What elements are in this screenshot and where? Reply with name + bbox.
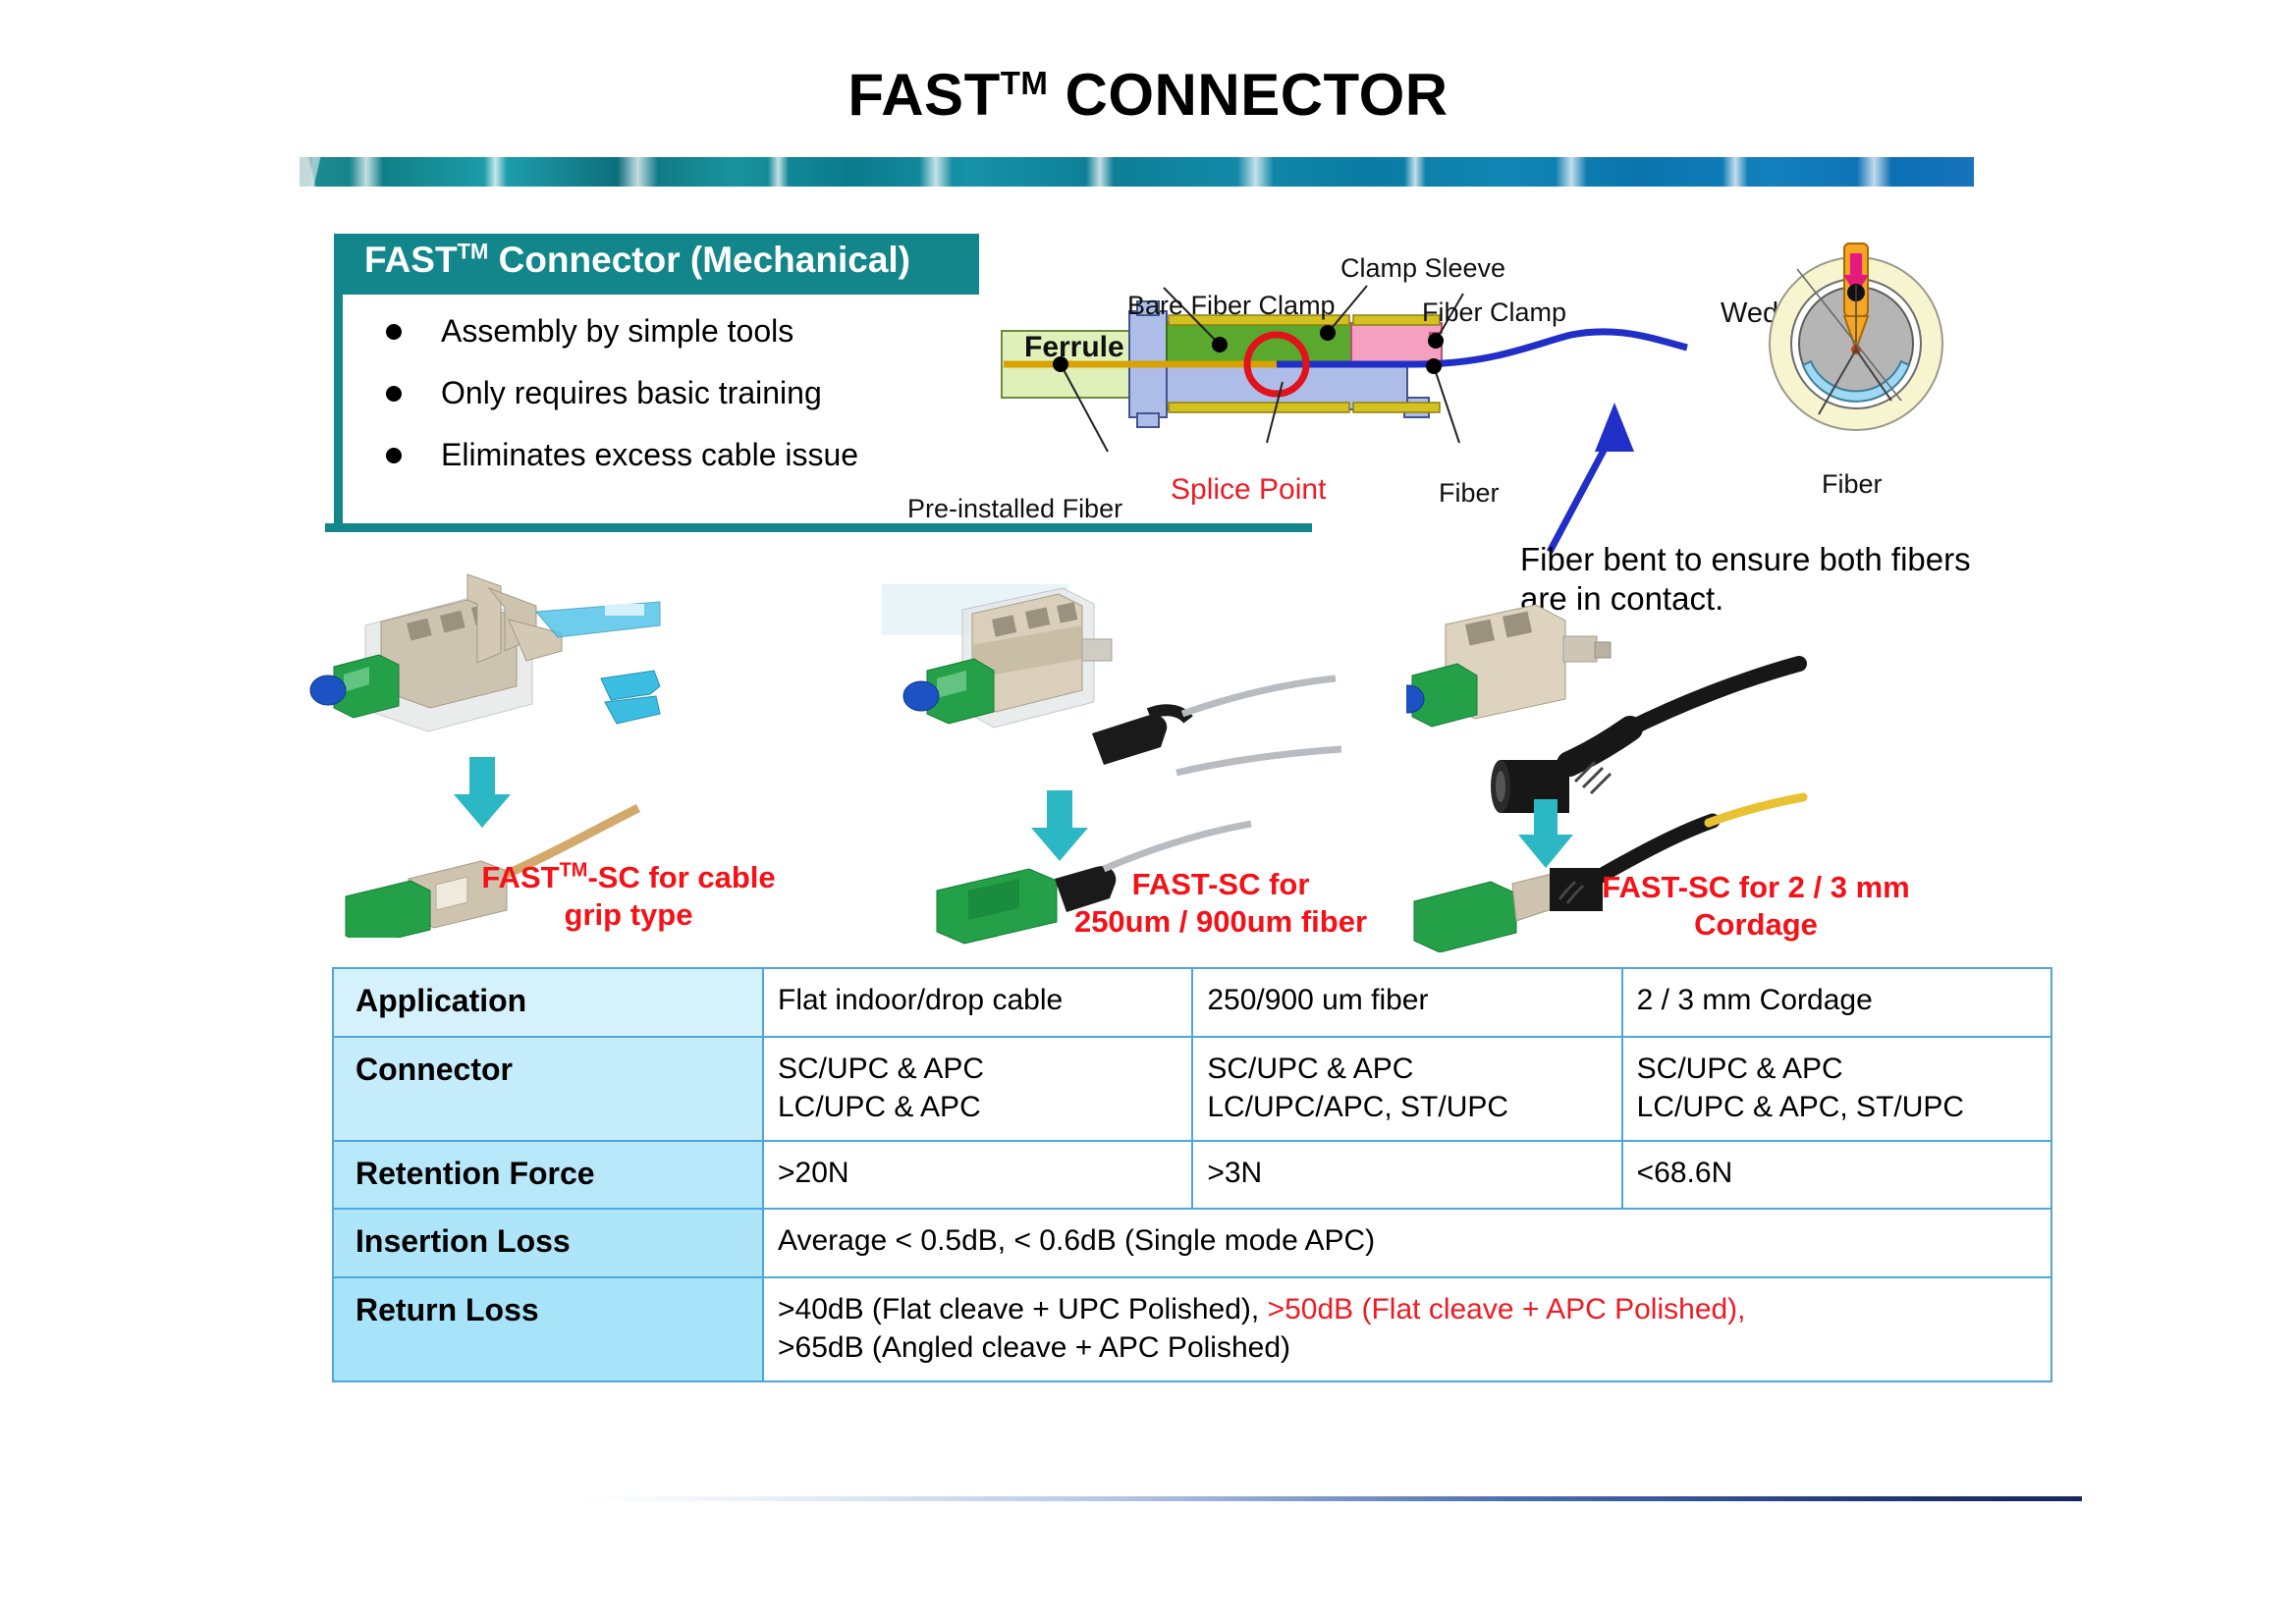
feature-item-label: Assembly by simple tools [441,313,793,350]
cell-line: LC/UPC & APC, ST/UPC [1637,1088,2037,1126]
feature-list-item: Assembly by simple tools [343,300,979,362]
band-streak [1237,157,1275,187]
band-streak [1404,157,1426,187]
bullet-icon [386,324,402,340]
cell-retention-col3: <68.6N [1622,1141,2051,1210]
label-ferrule: Ferrule [1024,331,1124,364]
label-splice-point: Splice Point [1171,473,1326,507]
page-title: FASTTM CONNECTOR [0,61,2296,129]
feature-heading-rest: Connector (Mechanical) [488,240,910,280]
feature-item-label: Only requires basic training [441,375,822,411]
table-row: Retention Force >20N >3N <68.6N [333,1141,2051,1210]
cell-connector-col3: SC/UPC & APC LC/UPC & APC, ST/UPC [1622,1037,2051,1141]
cell-return-loss: >40dB (Flat cleave + UPC Polished), >50d… [763,1277,2051,1381]
caption-1-tm-superscript: TM [560,860,588,882]
caption-2-line2: 250um / 900um fiber [1039,903,1402,941]
feature-box-heading: FASTTM Connector (Mechanical) [343,234,979,295]
band-streak [919,157,953,187]
caption-1-rest: -SC for cable [587,860,775,894]
cell-application-col1: Flat indoor/drop cable [763,968,1192,1037]
cell-connector-col1: SC/UPC & APC LC/UPC & APC [763,1037,1192,1141]
band-streak [1722,157,1748,187]
label-bare-fiber-clamp: Bare Fiber Clamp [1127,291,1336,321]
header-decorative-band [300,157,1974,187]
footer-rule [579,1496,2082,1501]
caption-3-line2: Cordage [1569,906,1942,944]
caption-2-main: FAST-SC for [1039,866,1402,903]
table-row: Application Flat indoor/drop cable 250/9… [333,968,2051,1037]
caption-fast-sc-cable-grip: FASTTM-SC for cable grip type [462,859,795,934]
cell-line: SC/UPC & APC [778,1050,1177,1088]
table-row: Connector SC/UPC & APC LC/UPC & APC SC/U… [333,1037,2051,1141]
cell-line: SC/UPC & APC [1207,1050,1607,1088]
row-header-insertion-loss: Insertion Loss [333,1209,763,1277]
table-row: Return Loss >40dB (Flat cleave + UPC Pol… [333,1277,2051,1381]
row-header-application: Application [333,968,763,1037]
band-streak [1857,157,1892,187]
label-pre-installed-fiber: Pre-installed Fiber [907,494,1122,524]
fiber-note-line1: Fiber bent to ensure both fibers [1520,540,2041,579]
label-fiber-clamp: Fiber Clamp [1422,297,1566,328]
band-streak [1556,157,1587,187]
caption-1-line2: grip type [462,896,795,934]
band-streak [768,157,788,187]
spec-table: Application Flat indoor/drop cable 250/9… [332,967,2052,1382]
bent-fiber-arrow-icon [1512,373,1689,560]
bullet-icon [386,386,402,402]
return-loss-black-part: >40dB (Flat cleave + UPC Polished), [778,1293,1268,1325]
band-streak [350,157,383,187]
cell-line: LC/UPC & APC [778,1088,1177,1126]
page-title-rest: CONNECTOR [1048,62,1448,128]
label-wedge-fiber: Fiber [1822,469,1883,500]
band-streak [484,157,508,187]
feature-box-bottom-rule [325,523,1312,532]
feature-heading-tm-superscript: TM [458,240,489,264]
page-title-main: FAST [847,62,1000,128]
feature-list-item: Eliminates excess cable issue [343,424,979,486]
caption-fast-sc-2-3mm-cordage: FAST-SC for 2 / 3 mm Cordage [1569,869,1942,944]
table-row: Insertion Loss Average < 0.5dB, < 0.6dB … [333,1209,2051,1277]
row-header-connector: Connector [333,1037,763,1141]
cell-retention-col1: >20N [763,1141,1192,1210]
label-clamp-sleeve: Clamp Sleeve [1340,253,1505,284]
page-title-tm-superscript: TM [1001,65,1049,101]
cell-insertion-loss: Average < 0.5dB, < 0.6dB (Single mode AP… [763,1209,2051,1277]
feature-box: FASTTM Connector (Mechanical) Assembly b… [334,234,979,523]
caption-1-main: FAST [481,860,559,894]
band-streak [618,157,658,187]
band-streak [1086,157,1113,187]
cell-application-col2: 250/900 um fiber [1192,968,1621,1037]
cell-connector-col2: SC/UPC & APC LC/UPC/APC, ST/UPC [1192,1037,1621,1141]
return-loss-red-part: >50dB (Flat cleave + APC Polished), [1268,1293,1746,1325]
feature-list: Assembly by simple tools Only requires b… [343,300,979,486]
row-header-retention-force: Retention Force [333,1141,763,1210]
label-fiber: Fiber [1439,478,1500,509]
cell-retention-col2: >3N [1192,1141,1621,1210]
cell-line: SC/UPC & APC [1637,1050,2037,1088]
cell-application-col3: 2 / 3 mm Cordage [1622,968,2051,1037]
caption-fast-sc-250-900um: FAST-SC for 250um / 900um fiber [1039,866,1402,941]
caption-3-main: FAST-SC for 2 / 3 mm [1569,869,1942,906]
return-loss-line1: >40dB (Flat cleave + UPC Polished), >50d… [778,1290,2037,1328]
row-header-return-loss: Return Loss [333,1277,763,1381]
return-loss-line2: >65dB (Angled cleave + APC Polished) [778,1328,2037,1367]
bullet-icon [386,448,402,463]
feature-item-label: Eliminates excess cable issue [441,437,858,473]
feature-list-item: Only requires basic training [343,362,979,424]
feature-heading-main: FAST [364,240,458,280]
cell-line: LC/UPC/APC, ST/UPC [1207,1088,1607,1126]
